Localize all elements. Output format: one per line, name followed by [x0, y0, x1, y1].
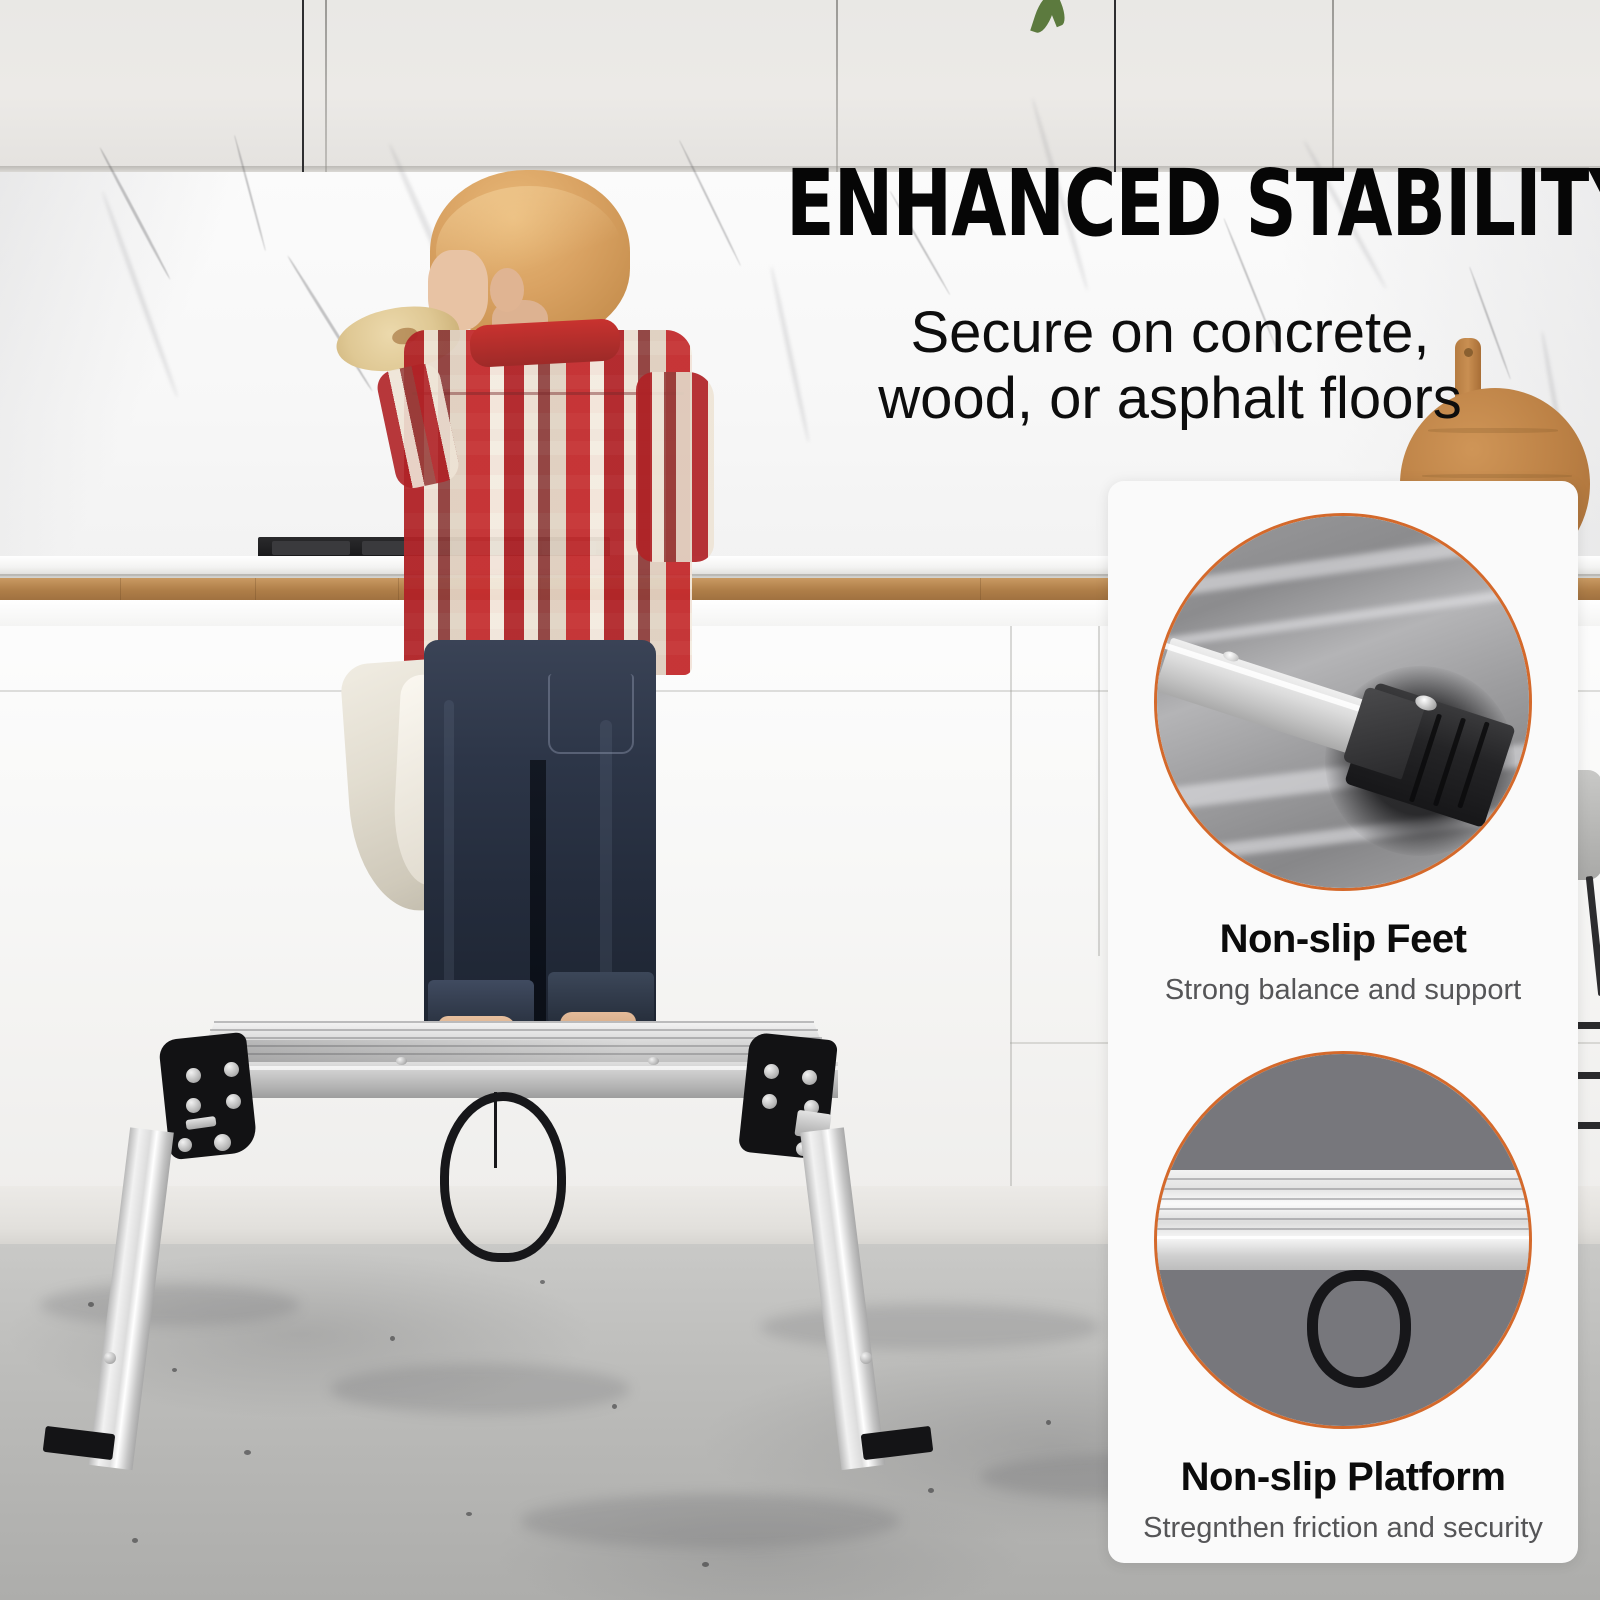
feature-title: Non-slip Feet — [1108, 917, 1578, 962]
subheading: Secure on concrete, wood, or asphalt flo… — [760, 300, 1580, 432]
feature-title: Non-slip Platform — [1108, 1455, 1578, 1500]
page-title: ENHANCED STABILITY — [786, 158, 1560, 250]
feature-callout-panel: Non-slip Feet Strong balance and support… — [1108, 481, 1578, 1563]
subheading-line-2: wood, or asphalt floors — [760, 366, 1580, 432]
cabinet-seam — [1332, 0, 1334, 172]
carry-strap-detail — [1307, 1270, 1411, 1388]
feature-subtitle: Stregnthen friction and security — [1108, 1512, 1578, 1545]
pendant-cord — [302, 0, 304, 176]
product-marketing-image: ENHANCED STABILITY Secure on concrete, w… — [0, 0, 1600, 1600]
upper-cabinets — [0, 0, 1600, 172]
pendant-cord — [1114, 0, 1116, 172]
non-slip-platform-closeup-icon — [1154, 1051, 1532, 1429]
feature-non-slip-platform: Non-slip Platform Stregnthen friction an… — [1108, 1051, 1578, 1545]
hinge-bracket-left — [158, 1032, 258, 1161]
cabinet-seam — [836, 0, 838, 172]
cabinet-seam — [325, 0, 327, 172]
subheading-line-1: Secure on concrete, — [760, 300, 1580, 366]
feature-non-slip-feet: Non-slip Feet Strong balance and support — [1108, 513, 1578, 1007]
carry-strap — [440, 1092, 566, 1262]
feature-subtitle: Strong balance and support — [1108, 974, 1578, 1007]
non-slip-foot-closeup-icon — [1154, 513, 1532, 891]
